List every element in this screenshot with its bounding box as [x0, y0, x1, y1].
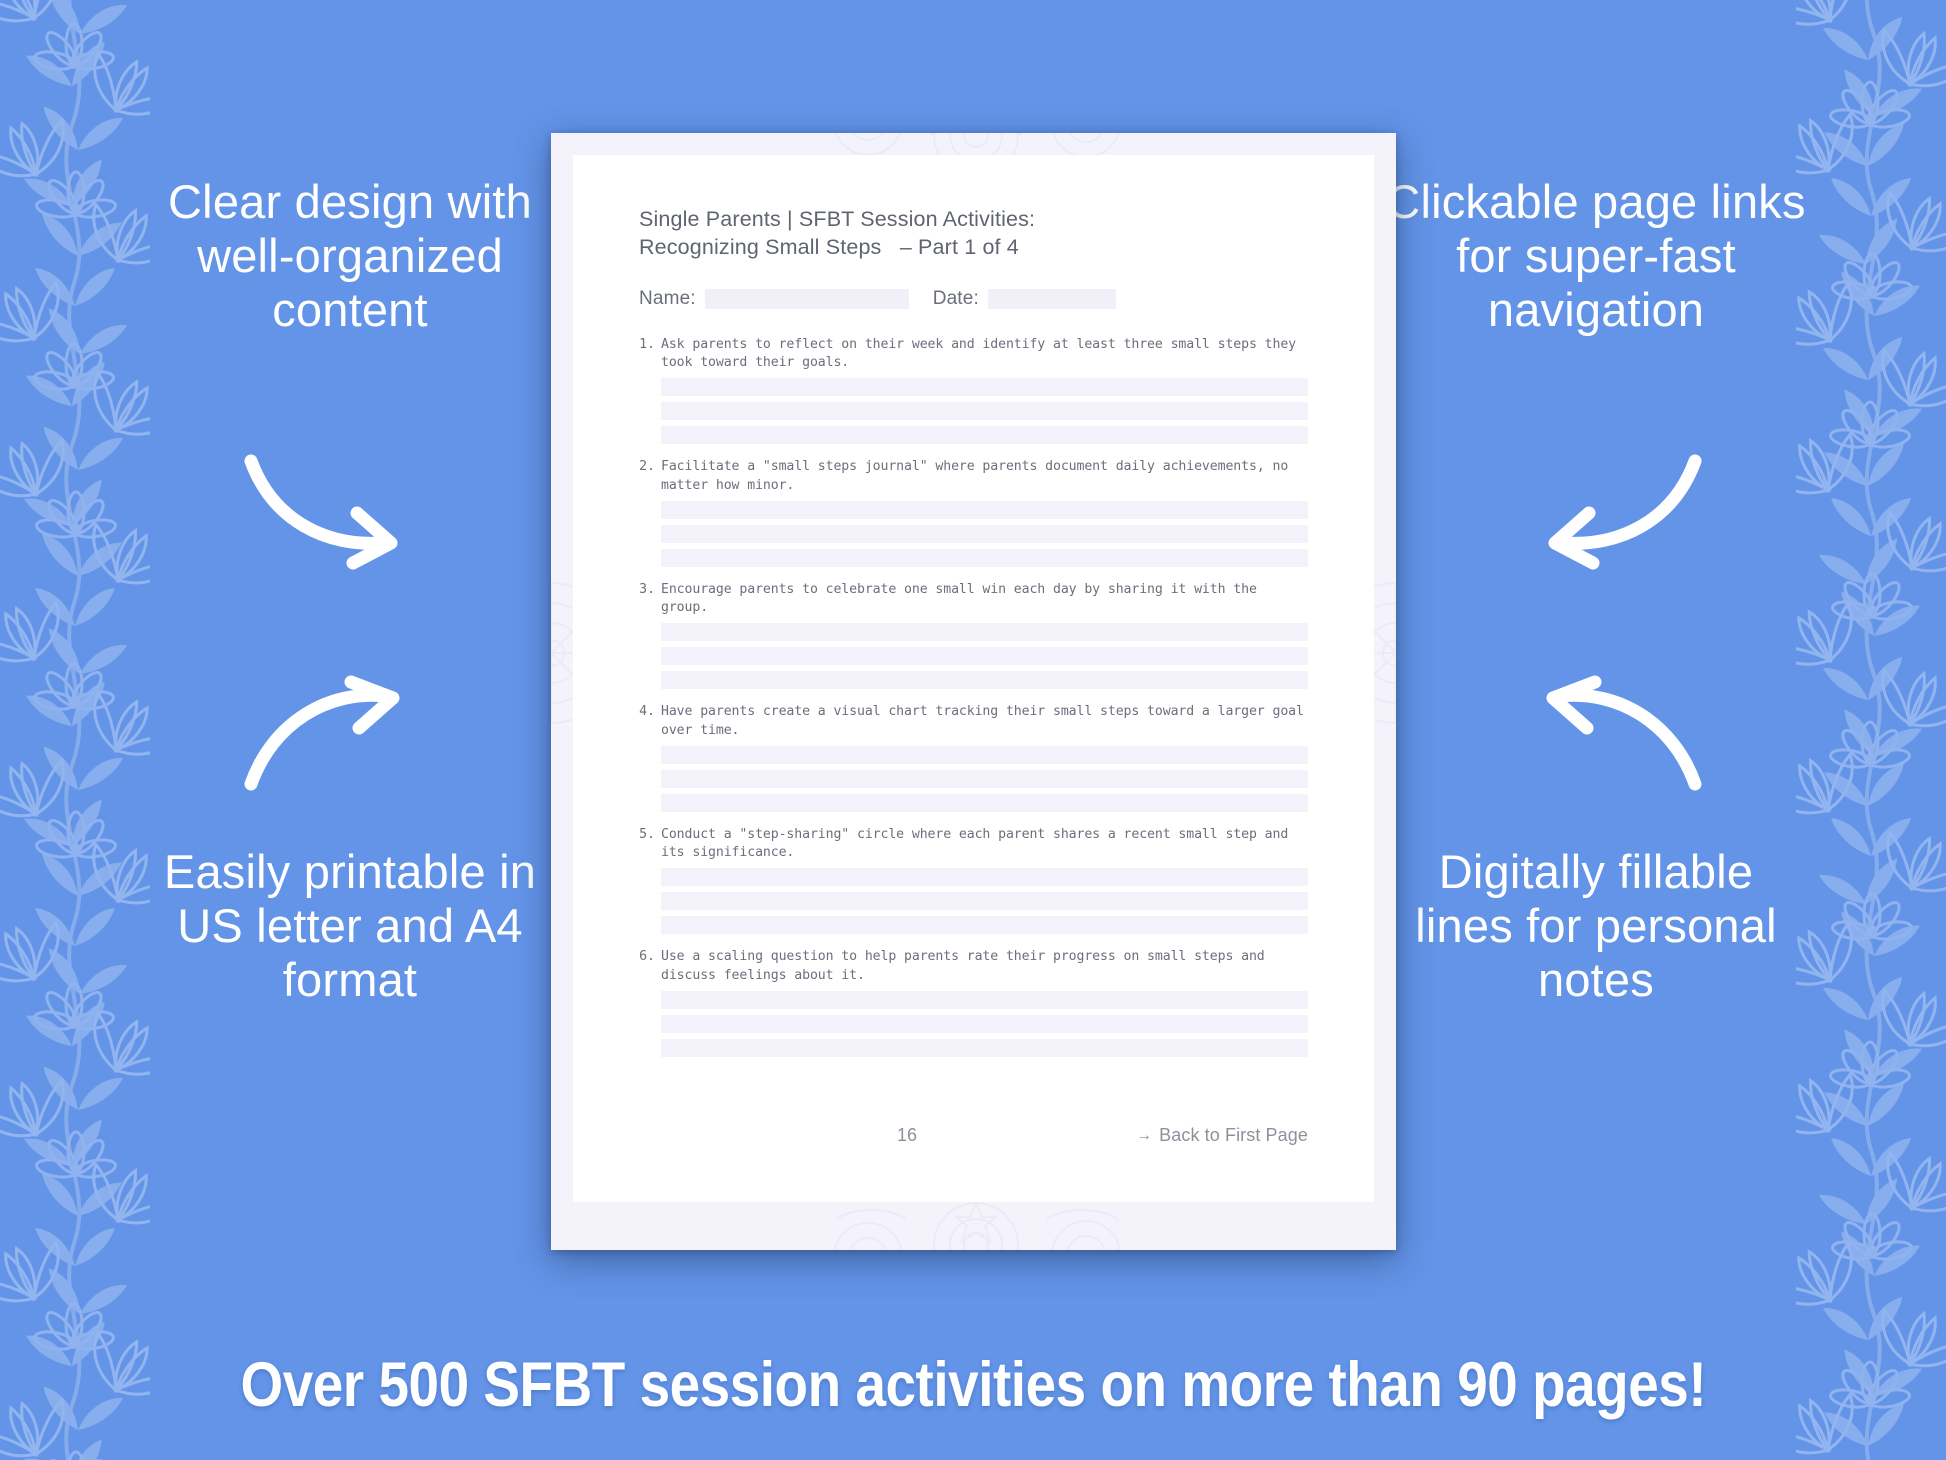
activity-item: 3.Encourage parents to celebrate one sma… [639, 581, 1308, 689]
date-label: Date: [933, 288, 979, 310]
activity-number: 2. [639, 458, 661, 477]
curved-arrow-top-right [1531, 455, 1701, 565]
fillable-line[interactable] [661, 794, 1308, 812]
activity-number: 4. [639, 703, 661, 722]
activity-text-row: 6.Use a scaling question to help parents… [639, 948, 1308, 985]
floral-border-left [0, 0, 150, 1460]
activity-text-row: 1.Ask parents to reflect on their week a… [639, 336, 1308, 373]
activity-description: Conduct a "step-sharing" circle where ea… [661, 826, 1308, 863]
page-number: 16 [897, 1125, 917, 1146]
activity-description: Encourage parents to celebrate one small… [661, 581, 1308, 618]
activity-text-row: 3.Encourage parents to celebrate one sma… [639, 581, 1308, 618]
fillable-line[interactable] [661, 501, 1308, 519]
name-label: Name: [639, 288, 696, 310]
fillable-line[interactable] [661, 892, 1308, 910]
document-header: Single Parents | SFBT Session Activities… [639, 155, 1308, 262]
fillable-lines-group [639, 378, 1308, 444]
activity-number: 1. [639, 336, 661, 355]
floral-border-right [1796, 0, 1946, 1460]
fillable-line[interactable] [661, 916, 1308, 934]
activity-text-row: 5.Conduct a "step-sharing" circle where … [639, 826, 1308, 863]
document-footer: 16 → Back to First Page [639, 1125, 1308, 1146]
fillable-lines-group [639, 623, 1308, 689]
fillable-line[interactable] [661, 1015, 1308, 1033]
activity-description: Use a scaling question to help parents r… [661, 948, 1308, 985]
fillable-lines-group [639, 746, 1308, 812]
fillable-line[interactable] [661, 671, 1308, 689]
activity-description: Facilitate a "small steps journal" where… [661, 458, 1308, 495]
curved-arrow-top-left [245, 455, 415, 565]
document-page: Single Parents | SFBT Session Activities… [551, 133, 1396, 1250]
fillable-lines-group [639, 991, 1308, 1057]
fillable-line[interactable] [661, 770, 1308, 788]
document-title-line-2: Recognizing Small Steps – Part 1 of 4 [639, 233, 1308, 261]
back-to-first-page-label: Back to First Page [1159, 1125, 1308, 1146]
fillable-lines-group [639, 868, 1308, 934]
document-title-line-1: Single Parents | SFBT Session Activities… [639, 205, 1308, 233]
curved-arrow-bottom-right [1531, 680, 1701, 790]
fillable-line[interactable] [661, 549, 1308, 567]
bottom-banner: Over 500 SFBT session activities on more… [0, 1310, 1946, 1460]
activity-description: Ask parents to reflect on their week and… [661, 336, 1308, 373]
fillable-line[interactable] [661, 623, 1308, 641]
date-input[interactable] [988, 289, 1116, 309]
back-to-first-page-link[interactable]: → Back to First Page [1136, 1125, 1308, 1146]
fillable-line[interactable] [661, 402, 1308, 420]
fillable-line[interactable] [661, 378, 1308, 396]
activity-number: 5. [639, 826, 661, 845]
curved-arrow-bottom-left [245, 680, 415, 790]
bottom-banner-text: Over 500 SFBT session activities on more… [240, 1349, 1706, 1421]
name-input[interactable] [705, 289, 909, 309]
promo-text-bottom-left: Easily printable in US letter and A4 for… [140, 845, 560, 1007]
fillable-line[interactable] [661, 991, 1308, 1009]
arrow-right-icon: → [1136, 1127, 1152, 1145]
page-inner-sheet: Single Parents | SFBT Session Activities… [573, 155, 1374, 1202]
fillable-line[interactable] [661, 647, 1308, 665]
fillable-lines-group [639, 501, 1308, 567]
fillable-line[interactable] [661, 868, 1308, 886]
fillable-line[interactable] [661, 1039, 1308, 1057]
promo-text-top-left: Clear design with well-organized content [140, 175, 560, 337]
name-date-row: Name: Date: [639, 288, 1308, 310]
activity-item: 4.Have parents create a visual chart tra… [639, 703, 1308, 811]
activity-item: 1.Ask parents to reflect on their week a… [639, 336, 1308, 444]
activity-item: 2.Facilitate a "small steps journal" whe… [639, 458, 1308, 566]
activity-description: Have parents create a visual chart track… [661, 703, 1308, 740]
promo-text-bottom-right: Digitally fillable lines for personal no… [1386, 845, 1806, 1007]
activity-text-row: 2.Facilitate a "small steps journal" whe… [639, 458, 1308, 495]
activity-item: 5.Conduct a "step-sharing" circle where … [639, 826, 1308, 934]
fillable-line[interactable] [661, 746, 1308, 764]
activity-text-row: 4.Have parents create a visual chart tra… [639, 703, 1308, 740]
activity-number: 6. [639, 948, 661, 967]
activities-list: 1.Ask parents to reflect on their week a… [639, 336, 1308, 1057]
activity-item: 6.Use a scaling question to help parents… [639, 948, 1308, 1056]
fillable-line[interactable] [661, 426, 1308, 444]
activity-number: 3. [639, 581, 661, 600]
fillable-line[interactable] [661, 525, 1308, 543]
promo-text-top-right: Clickable page links for super-fast navi… [1386, 175, 1806, 337]
